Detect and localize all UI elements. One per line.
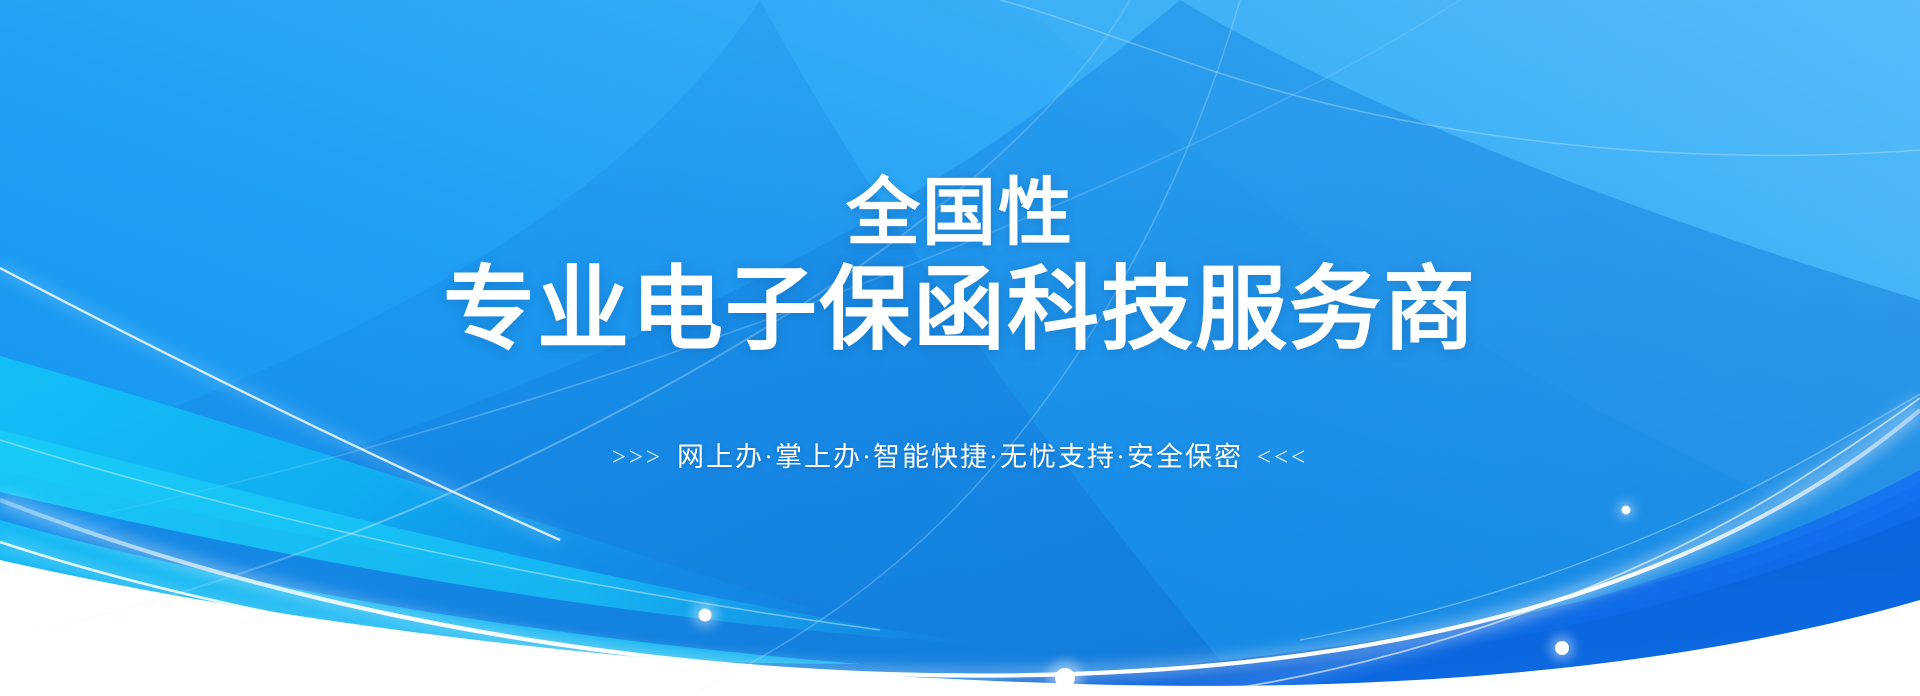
- headline-line-1: 全国性: [0, 176, 1920, 250]
- arrows-right-icon: >>>: [612, 445, 663, 470]
- promo-banner: 全国性 专业电子保函科技服务商 >>> 网上办·掌上办·智能快捷·无忧支持·安全…: [0, 0, 1920, 696]
- subtitle-text: 网上办·掌上办·智能快捷·无忧支持·安全保密: [677, 444, 1243, 471]
- banner-content: 全国性 专业电子保函科技服务商 >>> 网上办·掌上办·智能快捷·无忧支持·安全…: [0, 0, 1920, 696]
- arrows-left-icon: <<<: [1257, 445, 1308, 470]
- subtitle-row: >>> 网上办·掌上办·智能快捷·无忧支持·安全保密 <<<: [0, 444, 1920, 471]
- headline-line-2: 专业电子保函科技服务商: [0, 264, 1920, 356]
